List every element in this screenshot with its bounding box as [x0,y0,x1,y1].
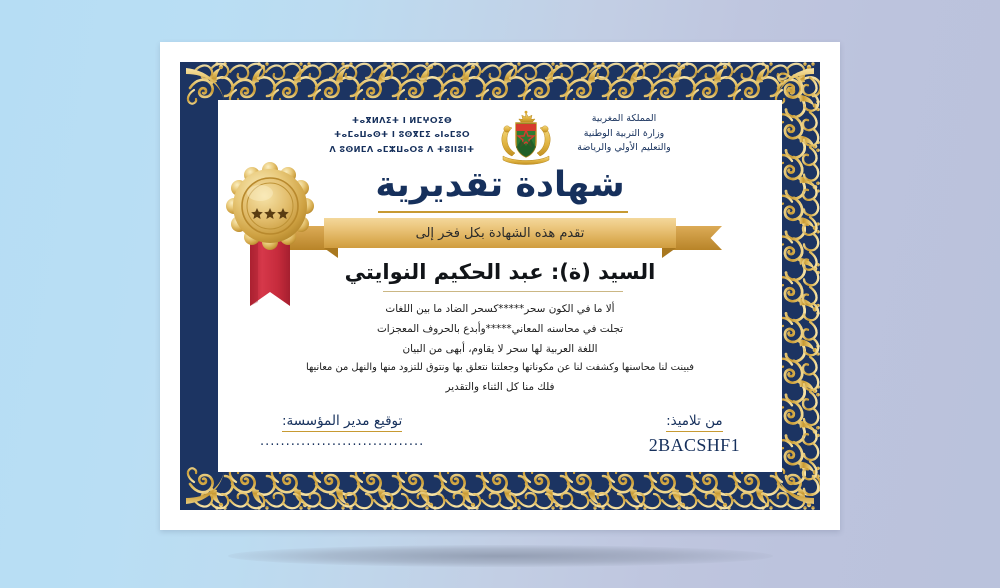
moroccan-coat-of-arms-icon [498,110,554,168]
body-line-2: تجلت في محاسنه المعاني*****وأبدع بالحروف… [232,320,768,340]
card-drop-shadow [228,545,773,567]
students-class-code: 2BACSHF1 [649,435,740,456]
recipient-underline-rule [383,291,623,292]
ministry-arabic-line-2: وزارة التربية الوطنية [560,127,688,142]
ribbon-text: تقدم هذه الشهادة بكل فخر إلى [416,226,585,241]
director-signature-label: توقيع مدير المؤسسة: [282,413,402,432]
students-block: من تلاميذ: 2BACSHF1 [649,410,740,456]
ministry-arabic-line-3: والتعليم الأولي والرياضة [560,141,688,156]
certificate-card: المملكة المغربية وزارة التربية الوطنية و… [160,42,840,530]
ministry-tifinagh-line-3: ⴷ ⵓⵙⵍⵎⴷ ⴰⵎⵣⵡⴰⵔⵓ ⴷ ⵜⵓⵏⵏⵓⵏⵜ [312,142,492,156]
ministry-arabic-line-1: المملكة المغربية [560,112,688,127]
ministry-tifinagh-line-2: ⵜⴰⵎⴰⵡⴰⵙⵜ ⵏ ⵓⵙⴳⵎⵉ ⴰⵏⴰⵎⵓⵔ [312,127,492,141]
certificate-border-frame: المملكة المغربية وزارة التربية الوطنية و… [180,62,820,510]
title-underline-rule [378,211,628,213]
students-label: من تلاميذ: [666,413,723,432]
ribbon-fold-left [324,248,338,258]
ministry-tifinagh-text: ⵜⴰⴳⵍⴷⵉⵜ ⵏ ⵍⵎⵖⵔⵉⴱ ⵜⴰⵎⴰⵡⴰⵙⵜ ⵏ ⵓⵙⴳⵎⵉ ⴰⵏⴰⵎⵓⵔ… [312,110,492,156]
body-line-3: اللغة العربية لها سحر لا يقاوم، أبهى من … [232,340,768,360]
gold-award-medal-icon [220,154,320,316]
ministry-arabic-text: المملكة المغربية وزارة التربية الوطنية و… [560,110,688,156]
presentation-ribbon-banner: تقدم هذه الشهادة بكل فخر إلى [278,218,722,254]
director-signature-dots: ................................ [260,434,424,449]
ministry-tifinagh-line-1: ⵜⴰⴳⵍⴷⵉⵜ ⵏ ⵍⵎⵖⵔⵉⴱ [312,113,492,127]
body-line-5: فلك منا كل الثناء والتقدير [232,378,768,398]
signature-row: توقيع مدير المؤسسة: ....................… [218,410,782,456]
ribbon-center-panel: تقدم هذه الشهادة بكل فخر إلى [324,218,676,248]
director-signature-block: توقيع مدير المؤسسة: ....................… [260,410,424,449]
ribbon-tail-right [670,226,722,250]
body-line-4: فبينت لنا محاسنها وكشفت لنا عن مكوناتها … [232,359,768,378]
